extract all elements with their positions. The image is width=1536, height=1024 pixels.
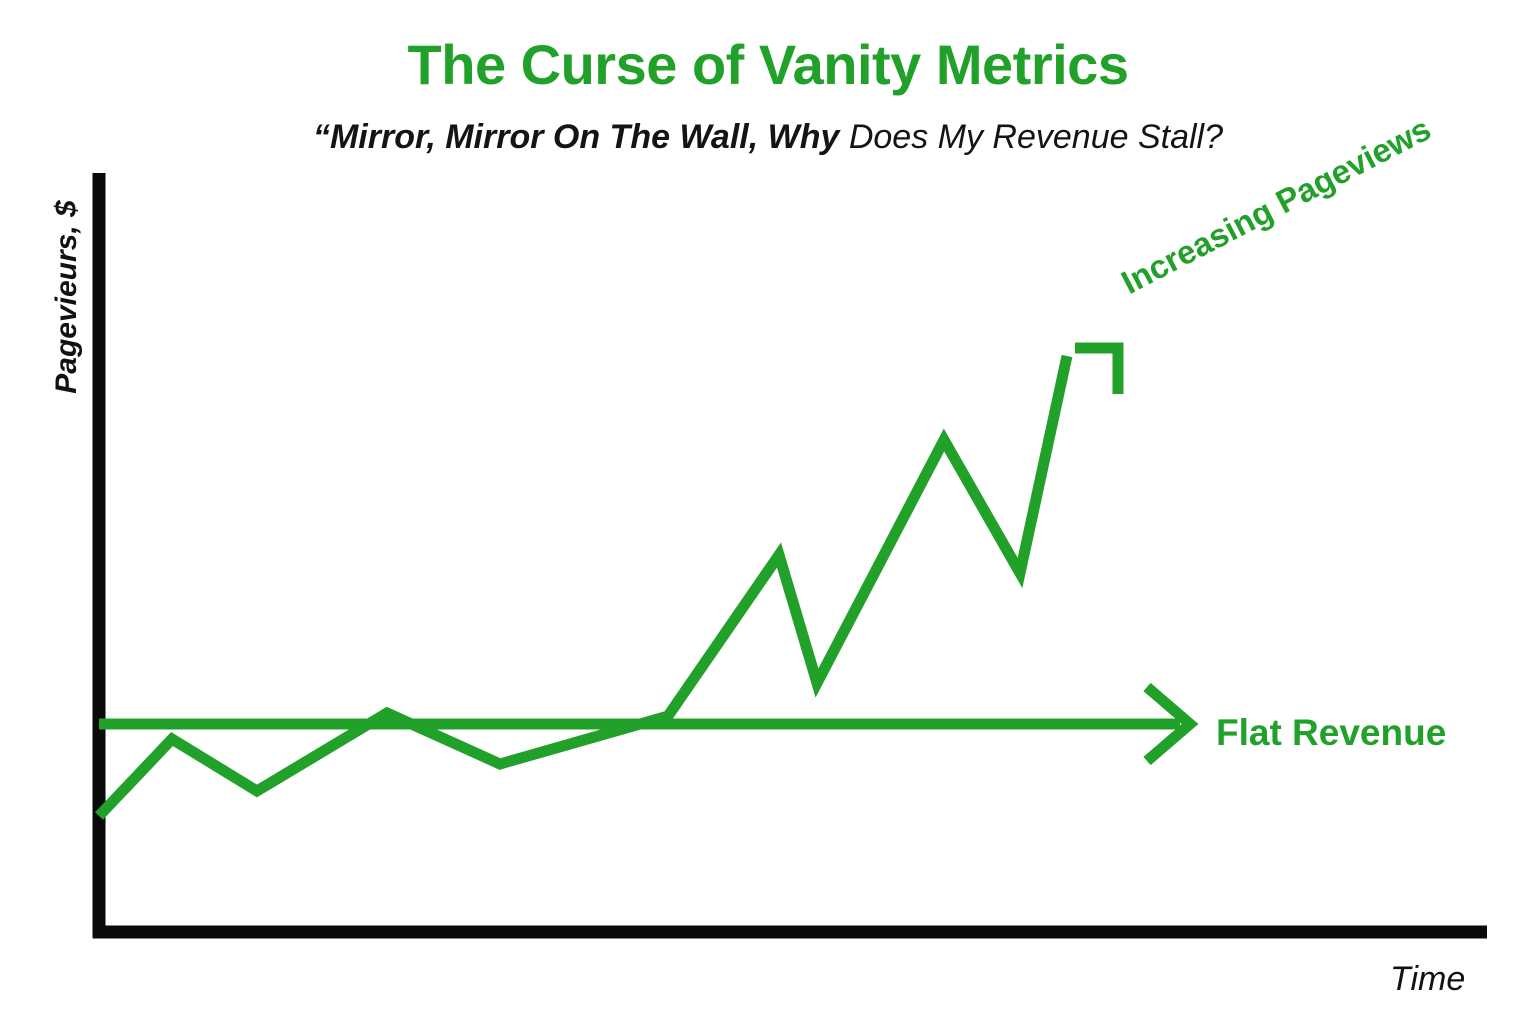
pageviews-arrowhead-icon <box>1075 348 1118 394</box>
chart-canvas: The Curse of Vanity Metrics “Mirror, Mir… <box>0 0 1536 1024</box>
plot-area <box>0 0 1536 1024</box>
annotation-flat-revenue: Flat Revenue <box>1216 712 1446 754</box>
pageviews-line <box>99 356 1067 816</box>
